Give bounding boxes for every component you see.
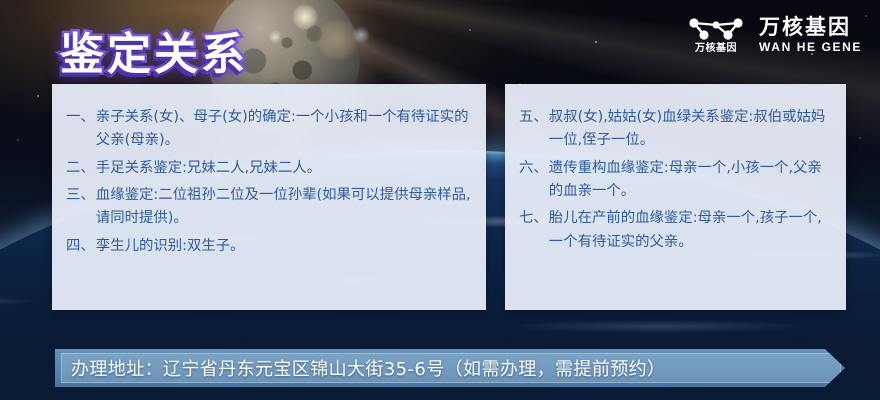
list-item: 一、 亲子关系(女)、母子(女)的确定:一个小孩和一个有待证实的父亲(母亲)。: [66, 106, 472, 153]
list-item-text: 叔叔(女),姑姑(女)血绿关系鉴定:叔伯或姑妈一位,侄子一位。: [549, 106, 832, 153]
list-item: 七、 胎儿在产前的血缘鉴定:母亲一个,孩子一个,一个有待证实的父亲。: [519, 207, 832, 254]
list-item-number: 六、: [519, 157, 549, 180]
list-item-text: 手足关系鉴定:兄妹二人,兄妹二人。: [96, 157, 472, 180]
service-list-panel-left: 一、 亲子关系(女)、母子(女)的确定:一个小孩和一个有待证实的父亲(母亲)。 …: [52, 84, 486, 310]
list-item: 六、 遗传重构血缘鉴定:母亲一个,小孩一个,父亲的血亲一个。: [519, 157, 832, 204]
list-item: 三、 血缘鉴定:二位祖孙二位及一位孙辈(如果可以提供母亲样品,请同时提供)。: [66, 184, 472, 231]
list-item-text: 孪生儿的识别:双生子。: [96, 235, 472, 258]
address-banner-inner: 办理地址：辽宁省丹东元宝区锦山大街35-6号（如需办理，需提前预约）: [61, 353, 841, 383]
list-item-text: 胎儿在产前的血缘鉴定:母亲一个,孩子一个,一个有待证实的父亲。: [549, 207, 832, 254]
molecule-icon: [687, 16, 745, 42]
service-list-panel-right: 五、 叔叔(女),姑姑(女)血绿关系鉴定:叔伯或姑妈一位,侄子一位。 六、 遗传…: [505, 84, 846, 310]
logo-wordmark: 万核基因 WAN HE GENE: [759, 17, 862, 53]
list-item-text: 遗传重构血缘鉴定:母亲一个,小孩一个,父亲的血亲一个。: [549, 157, 832, 204]
brand-logo: 万核基因 万核基因 WAN HE GENE: [687, 16, 862, 54]
logo-mark-label: 万核基因: [695, 44, 737, 54]
page-title: 鉴定关系: [60, 18, 248, 82]
list-item: 五、 叔叔(女),姑姑(女)血绿关系鉴定:叔伯或姑妈一位,侄子一位。: [519, 106, 832, 153]
list-item-number: 二、: [66, 157, 96, 180]
list-item-text: 血缘鉴定:二位祖孙二位及一位孙辈(如果可以提供母亲样品,请同时提供)。: [96, 184, 472, 231]
list-item-number: 七、: [519, 207, 549, 230]
list-item-number: 一、: [66, 106, 96, 129]
address-banner: 办理地址：辽宁省丹东元宝区锦山大街35-6号（如需办理，需提前预约）: [55, 349, 845, 387]
list-item-text: 亲子关系(女)、母子(女)的确定:一个小孩和一个有待证实的父亲(母亲)。: [96, 106, 472, 153]
list-item: 二、 手足关系鉴定:兄妹二人,兄妹二人。: [66, 157, 472, 180]
logo-mark: 万核基因: [687, 16, 745, 54]
list-item-number: 三、: [66, 184, 96, 207]
list-item: 四、 孪生儿的识别:双生子。: [66, 235, 472, 258]
slide-canvas: 鉴定关系: [0, 0, 880, 400]
address-text: 办理地址：辽宁省丹东元宝区锦山大街35-6号（如需办理，需提前预约）: [71, 355, 665, 381]
brand-name-en: WAN HE GENE: [759, 41, 862, 53]
list-item-number: 五、: [519, 106, 549, 129]
brand-name-cn: 万核基因: [759, 17, 862, 39]
list-item-number: 四、: [66, 235, 96, 258]
